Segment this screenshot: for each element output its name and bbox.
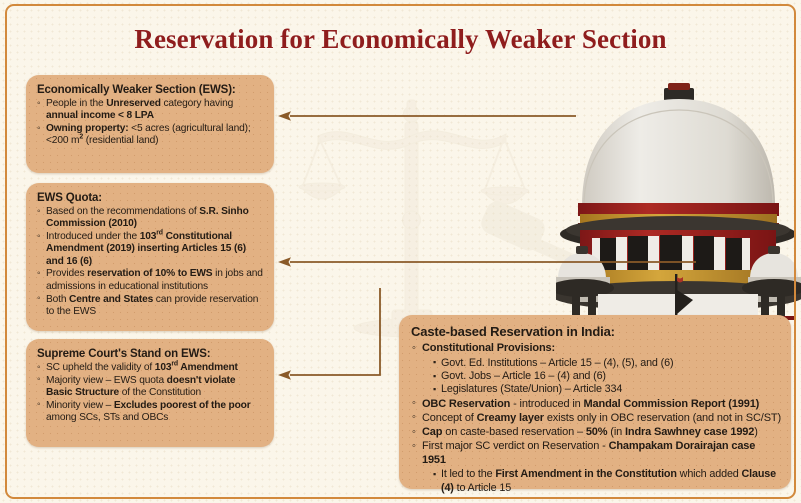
list-item: OBC Reservation - introduced in Mandal C… [411,398,781,412]
supreme-court-building-illustration [556,58,801,320]
page-title: Reservation for Economically Weaker Sect… [0,24,801,55]
box-ews-definition: Economically Weaker Section (EWS): Peopl… [26,75,274,173]
bullet-list: SC upheld the validity of 103rd Amendmen… [37,362,264,424]
box-caste-based-reservation: Caste-based Reservation in India: Consti… [399,315,791,489]
list-item: Concept of Creamy layer exists only in O… [411,412,781,426]
box-title: Economically Weaker Section (EWS): [37,83,264,97]
box-supreme-court-stand: Supreme Court's Stand on EWS: SC upheld … [26,339,274,447]
list-item: Based on the recommendations of S.R. Sin… [37,206,264,231]
list-item: Majority view – EWS quota doesn't violat… [37,375,264,400]
box-ews-quota: EWS Quota: Based on the recommendations … [26,183,274,331]
list-item: Both Centre and States can provide reser… [37,294,264,319]
sub-list-item: Govt. Ed. Institutions – Article 15 – (4… [433,357,781,370]
sub-list-item: Legislatures (State/Union) – Article 334 [433,383,781,396]
list-item: People in the Unreserved category having… [37,98,264,123]
bullet-list: Constitutional Provisions:Govt. Ed. Inst… [411,342,781,495]
sub-bullet-list: Govt. Ed. Institutions – Article 15 – (4… [422,357,781,397]
arrow-to-ews-quota [276,254,696,270]
sub-list-item: It led to the First Amendment in the Con… [433,468,781,495]
list-item: Cap on caste-based reservation – 50% (in… [411,426,781,440]
arrow-to-ews-definition [276,108,576,124]
bullet-list: People in the Unreserved category having… [37,98,264,148]
list-item: Provides reservation of 10% to EWS in jo… [37,268,264,293]
list-item: SC upheld the validity of 103rd Amendmen… [37,362,264,374]
box-title: Caste-based Reservation in India: [411,324,781,340]
box-title: EWS Quota: [37,191,264,205]
list-item: Introduced under the 103rd Constitutiona… [37,231,264,268]
list-item: Constitutional Provisions:Govt. Ed. Inst… [411,342,781,397]
list-item: Minority view – Excludes poorest of the … [37,400,264,425]
sub-bullet-list: It led to the First Amendment in the Con… [422,468,781,495]
box-title: Supreme Court's Stand on EWS: [37,347,264,361]
list-item: Owning property: <5 acres (agricultural … [37,123,264,148]
sub-list-item: Govt. Jobs – Article 16 – (4) and (6) [433,370,781,383]
bullet-list: Based on the recommendations of S.R. Sin… [37,206,264,318]
list-item: First major SC verdict on Reservation - … [411,440,781,495]
